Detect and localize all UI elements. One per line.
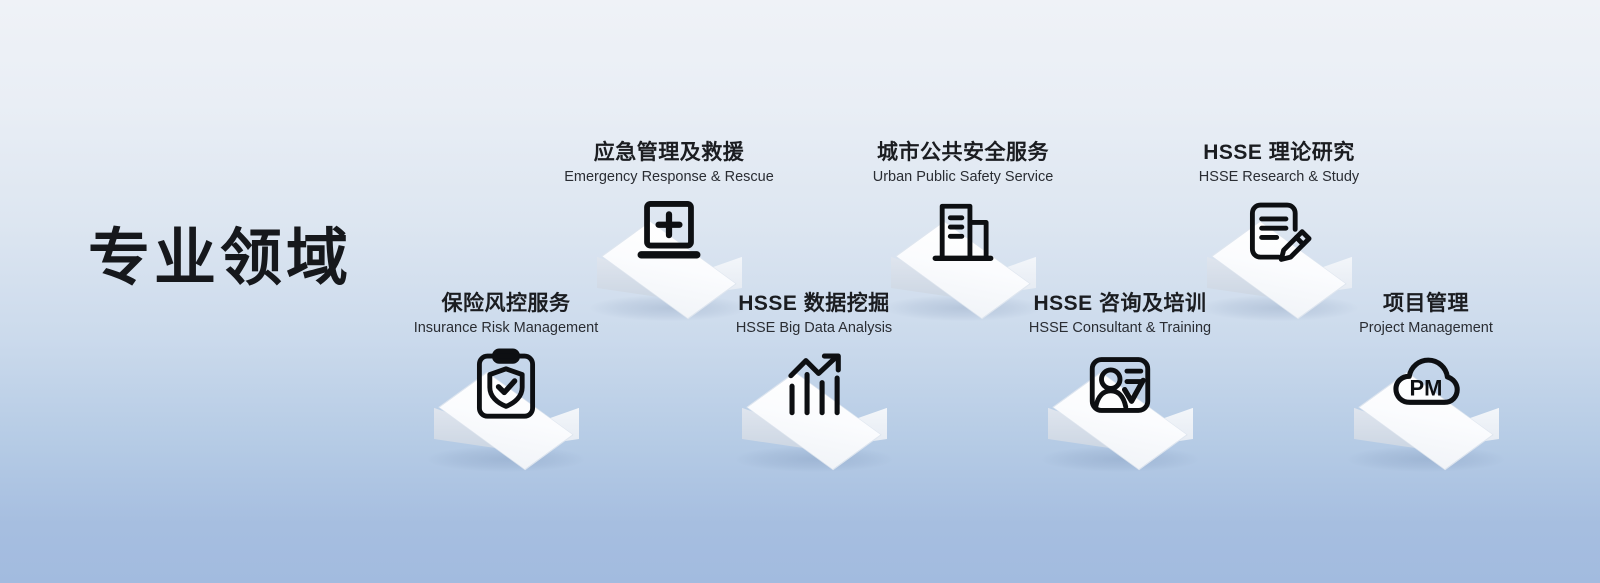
item-project-management[interactable]: 项目管理 Project Management PM xyxy=(1276,293,1576,474)
infographic-stage: 专业领域 保险风控服务 Insurance Risk Management xyxy=(0,0,1600,583)
document-pencil-icon xyxy=(1242,197,1316,271)
item-title-cn: 项目管理 xyxy=(1276,293,1576,315)
first-aid-plus-icon xyxy=(632,197,706,271)
item-title-cn: 城市公共安全服务 xyxy=(813,142,1113,164)
item-title-en: Project Management xyxy=(1276,319,1576,338)
item-title-en: Urban Public Safety Service xyxy=(813,168,1113,187)
city-buildings-icon xyxy=(926,197,1000,271)
clipboard-shield-check-icon xyxy=(469,348,543,422)
page-title: 专业领域 xyxy=(88,228,352,290)
item-artwork xyxy=(356,344,656,474)
item-title-en: Emergency Response & Rescue xyxy=(519,168,819,187)
bar-chart-trend-arrow-icon xyxy=(777,348,851,422)
item-artwork xyxy=(970,344,1270,474)
item-artwork: PM xyxy=(1276,344,1576,474)
cloud-pm-icon: PM xyxy=(1389,348,1463,422)
item-artwork xyxy=(664,344,964,474)
item-title-cn: 应急管理及救援 xyxy=(519,142,819,164)
cloud-pm-label: PM xyxy=(1410,375,1443,400)
person-card-check-icon xyxy=(1083,348,1157,422)
item-title-en: HSSE Research & Study xyxy=(1129,168,1429,187)
item-title-cn: HSSE 理论研究 xyxy=(1129,142,1429,164)
